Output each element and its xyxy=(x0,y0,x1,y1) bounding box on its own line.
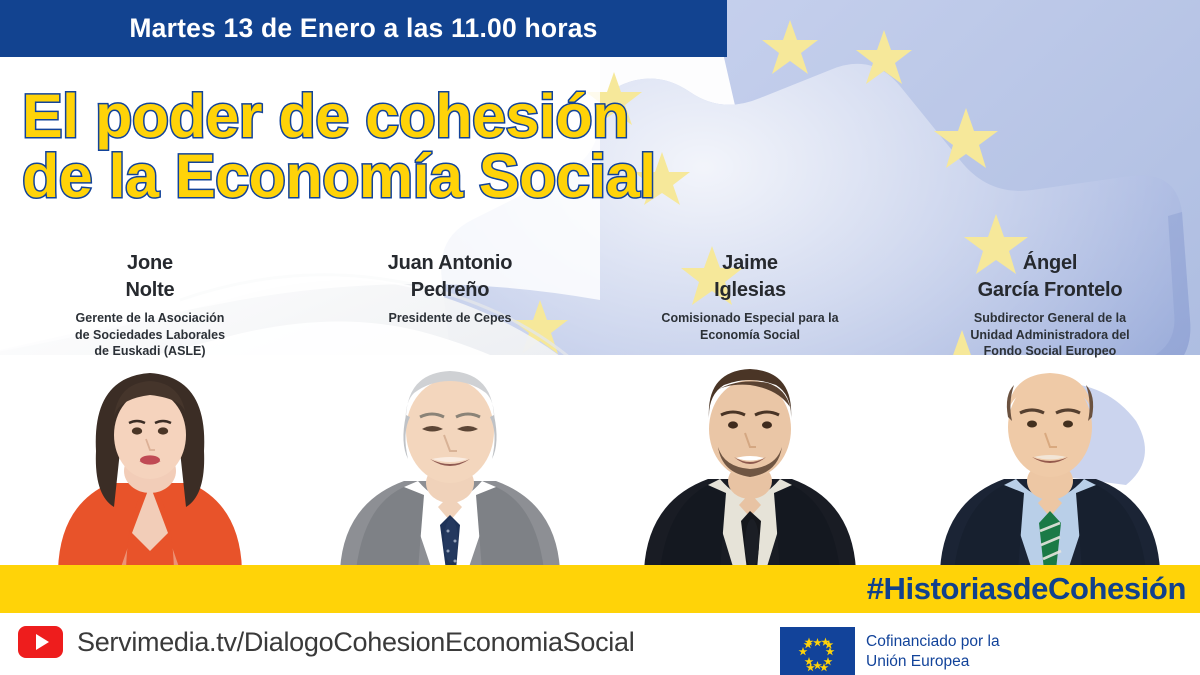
speaker-card-3: Jaime Iglesias Comisionado Especial para… xyxy=(600,250,900,360)
portrait-jaime-iglesias xyxy=(600,355,900,570)
promo-poster: Martes 13 de Enero a las 11.00 horas El … xyxy=(0,0,1200,675)
speaker-name: Juan Antonio Pedreño xyxy=(312,250,588,304)
date-banner-text: Martes 13 de Enero a las 11.00 horas xyxy=(129,13,597,44)
page-title: El poder de cohesión de la Economía Soci… xyxy=(22,86,656,207)
european-union-flag-icon xyxy=(780,627,855,675)
portrait-row xyxy=(0,355,1200,570)
speaker-card-2: Juan Antonio Pedreño Presidente de Cepes xyxy=(300,250,600,360)
speaker-role: Comisionado Especial para la Economía So… xyxy=(612,310,888,343)
footer-bar: Servimedia.tv/DialogoCohesionEconomiaSoc… xyxy=(0,613,1200,675)
hashtag: #HistoriasdeCohesión xyxy=(867,571,1186,607)
speakers-list: Jone Nolte Gerente de la Asociación de S… xyxy=(0,250,1200,360)
speaker-name: Jaime Iglesias xyxy=(612,250,888,304)
stream-url[interactable]: Servimedia.tv/DialogoCohesionEconomiaSoc… xyxy=(77,627,634,658)
youtube-link[interactable]: Servimedia.tv/DialogoCohesionEconomiaSoc… xyxy=(18,626,634,658)
portrait-angel-garcia-frontelo xyxy=(900,355,1200,570)
speaker-role: Gerente de la Asociación de Sociedades L… xyxy=(12,310,288,360)
speaker-role: Presidente de Cepes xyxy=(312,310,588,327)
speaker-role: Subdirector General de la Unidad Adminis… xyxy=(912,310,1188,360)
youtube-play-icon[interactable] xyxy=(18,626,63,658)
eu-cofunding: Cofinanciado por la Unión Europea xyxy=(780,627,1000,675)
portrait-jone-nolte xyxy=(0,355,300,570)
speaker-card-4: Ángel García Frontelo Subdirector Genera… xyxy=(900,250,1200,360)
eu-cofunding-text: Cofinanciado por la Unión Europea xyxy=(866,632,1000,672)
portrait-juan-antonio-pedreno xyxy=(300,355,600,570)
speaker-card-1: Jone Nolte Gerente de la Asociación de S… xyxy=(0,250,300,360)
speaker-name: Ángel García Frontelo xyxy=(912,250,1188,304)
speaker-name: Jone Nolte xyxy=(12,250,288,304)
date-banner: Martes 13 de Enero a las 11.00 horas xyxy=(0,0,727,57)
